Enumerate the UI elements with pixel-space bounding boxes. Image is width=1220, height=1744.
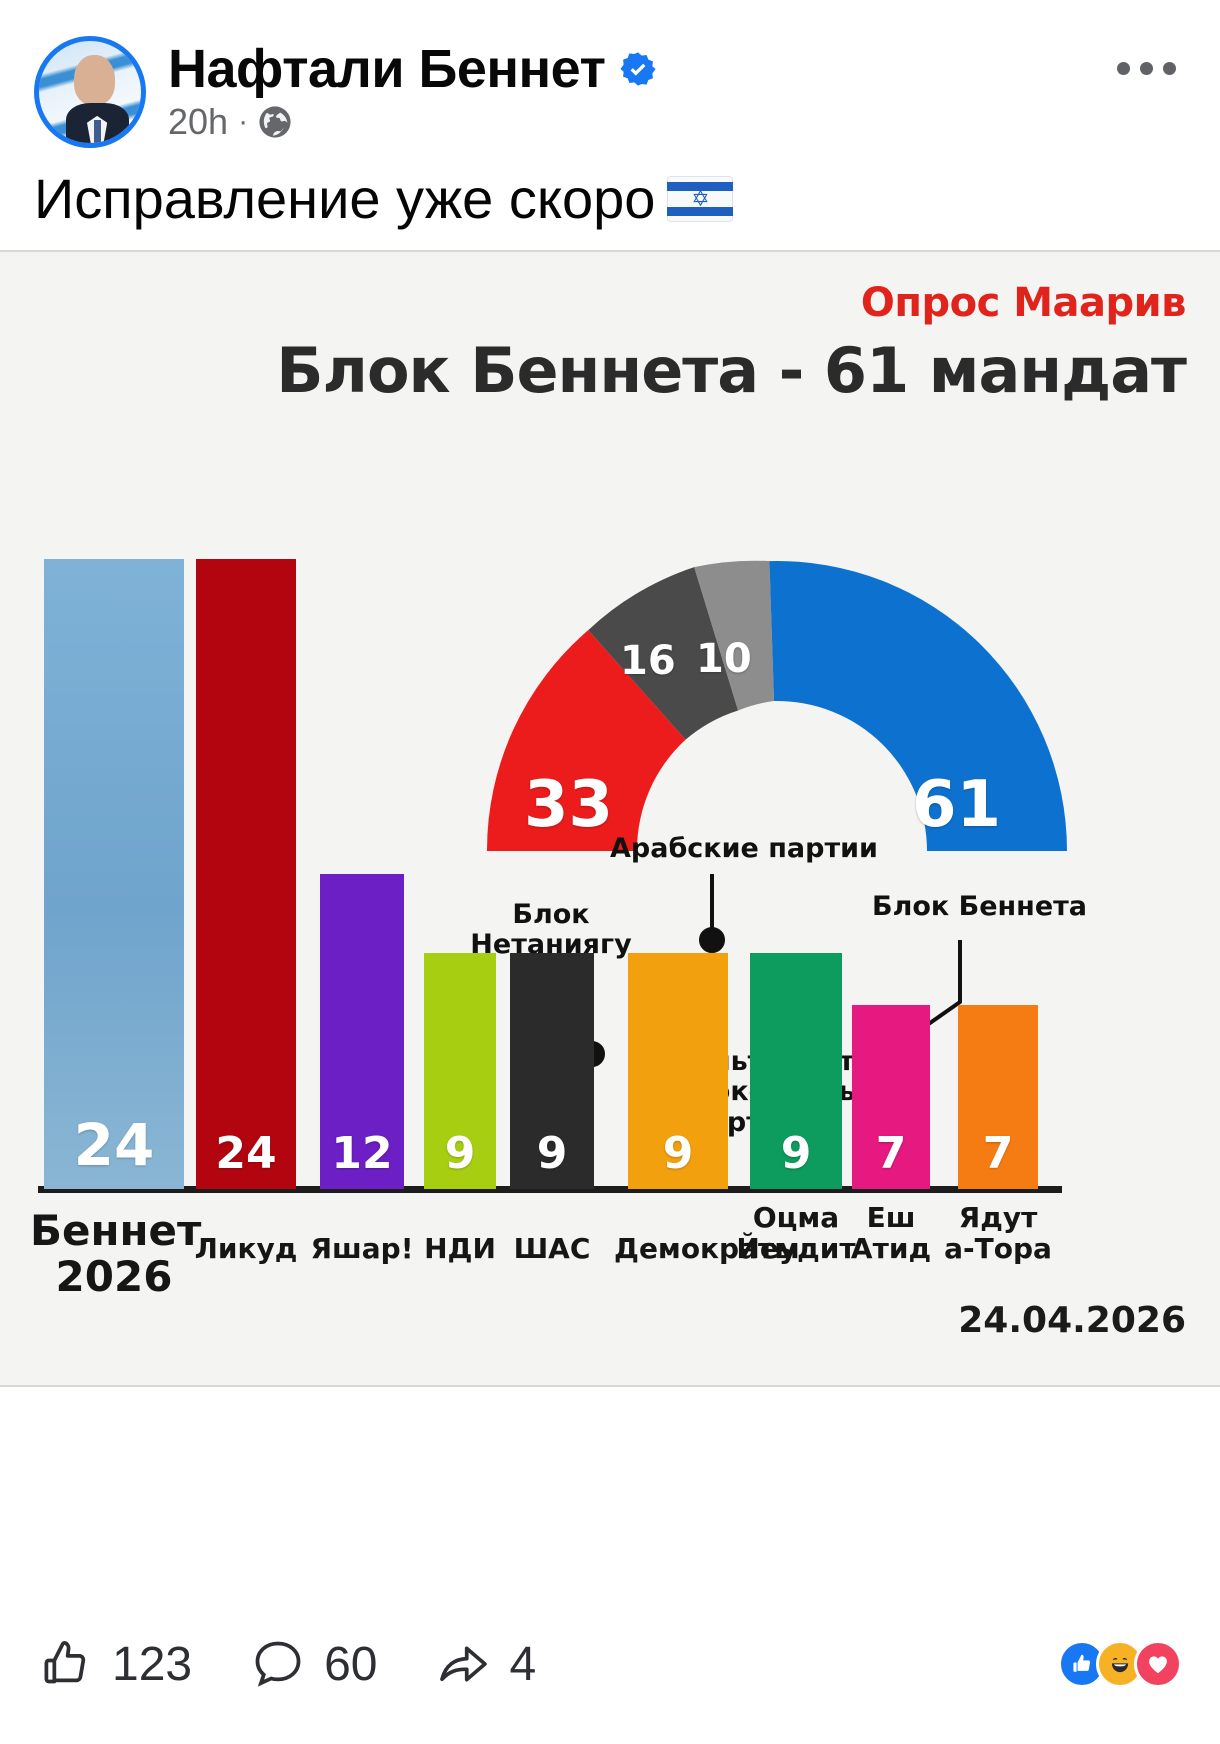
share-icon <box>435 1636 491 1692</box>
category-label-4: ШАС <box>496 1234 608 1265</box>
post-header: Нафтали Беннет 20h · <box>0 0 1220 152</box>
bar-value-8: 7 <box>958 1128 1038 1179</box>
bar-chart: 242412999977 Беннет2026ЛикудЯшар!НДИШАСД… <box>0 685 1220 1385</box>
bar-value-0: 24 <box>44 1111 184 1179</box>
category-label-line: Еш Атид <box>838 1203 944 1265</box>
post-text: Исправление уже скоро ✡ <box>0 152 1220 250</box>
bar-value-1: 24 <box>196 1128 296 1179</box>
author-name-row: Нафтали Беннет <box>168 41 657 98</box>
israel-flag-emoji: ✡ <box>667 176 733 222</box>
comment-icon <box>250 1636 306 1692</box>
author-name[interactable]: Нафтали Беннет <box>168 41 605 98</box>
bar-value-7: 7 <box>852 1128 930 1179</box>
category-label-7: Еш Атид <box>838 1203 944 1265</box>
category-label-line: а-Тора <box>944 1234 1052 1265</box>
facebook-post: Нафтали Беннет 20h · Исправление уже ско… <box>0 0 1220 1744</box>
category-label-3: НДИ <box>410 1234 510 1265</box>
category-label-0: Беннет2026 <box>30 1208 198 1299</box>
donut-value-arab: 10 <box>696 636 752 682</box>
reaction-love-icon <box>1134 1640 1182 1688</box>
bar-8: 7 <box>958 1005 1038 1189</box>
bar-6: 9 <box>750 953 842 1189</box>
globe-icon[interactable] <box>258 105 292 139</box>
poll-infographic: Опрос Маарив Блок Беннета - 61 мандат 33… <box>0 250 1220 1387</box>
bar-value-4: 9 <box>510 1128 594 1179</box>
comment-count: 60 <box>324 1637 377 1692</box>
bar-0: 24 <box>44 559 184 1189</box>
category-label-2: Яшар! <box>306 1234 418 1265</box>
meta-separator: · <box>238 107 248 137</box>
avatar-portrait <box>66 55 129 147</box>
post-author-block: Нафтали Беннет 20h · <box>168 41 657 144</box>
post-timestamp[interactable]: 20h <box>168 101 228 143</box>
avatar[interactable] <box>34 36 146 148</box>
verified-badge-icon <box>619 50 657 88</box>
bar-7: 7 <box>852 1005 930 1189</box>
post-text-content: Исправление уже скоро <box>34 166 655 232</box>
category-label-5: Демократы <box>614 1234 742 1265</box>
category-label-line: Беннет <box>30 1208 198 1253</box>
post-engagement-bar: 123 60 4 <box>0 1584 1220 1744</box>
chart-date: 24.04.2026 <box>958 1300 1186 1341</box>
category-label-line: Ядут <box>944 1203 1052 1234</box>
donut-value-haredi: 16 <box>620 638 676 684</box>
bar-4: 9 <box>510 953 594 1189</box>
bar-value-2: 12 <box>320 1128 404 1179</box>
category-label-line: Демократы <box>614 1234 742 1265</box>
bar-1: 24 <box>196 559 296 1189</box>
category-label-line: Яшар! <box>306 1234 418 1265</box>
comment-button[interactable]: 60 <box>250 1636 377 1692</box>
bar-value-3: 9 <box>424 1128 496 1179</box>
bar-3: 9 <box>424 953 496 1189</box>
poll-source-label: Опрос Маарив <box>861 280 1186 326</box>
category-label-line: ШАС <box>496 1234 608 1265</box>
thumbs-up-icon <box>38 1636 94 1692</box>
category-label-8: Ядута-Тора <box>944 1203 1052 1265</box>
bar-5: 9 <box>628 953 728 1189</box>
category-label-line: Ликуд <box>182 1234 310 1265</box>
infographic-title: Блок Беннета - 61 мандат <box>0 334 1186 407</box>
category-label-1: Ликуд <box>182 1234 310 1265</box>
more-options-icon[interactable] <box>1117 62 1176 75</box>
share-count: 4 <box>509 1637 536 1692</box>
reaction-badges[interactable] <box>1068 1640 1182 1688</box>
category-label-line: НДИ <box>410 1234 510 1265</box>
post-meta-row: 20h · <box>168 101 657 143</box>
share-button[interactable]: 4 <box>435 1636 536 1692</box>
like-button[interactable]: 123 <box>38 1636 192 1692</box>
bar-value-5: 9 <box>628 1128 728 1179</box>
category-label-line: 2026 <box>30 1254 198 1299</box>
bar-2: 12 <box>320 874 404 1189</box>
like-count: 123 <box>112 1637 192 1692</box>
bar-value-6: 9 <box>750 1128 842 1179</box>
